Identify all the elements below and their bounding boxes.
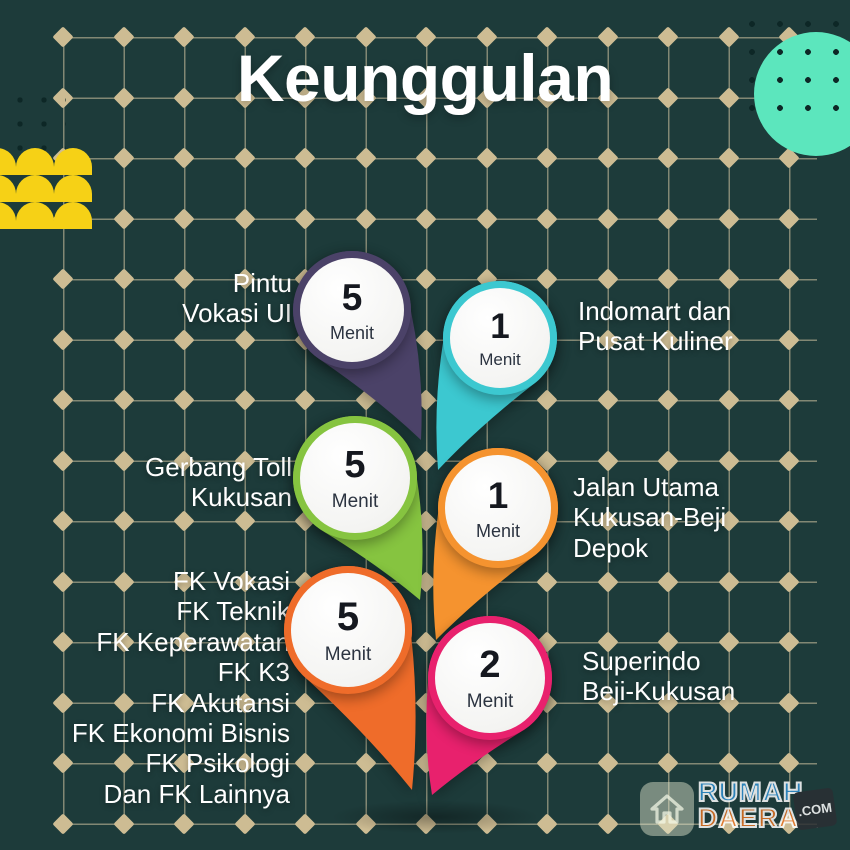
grid-node — [597, 813, 618, 834]
grid-node — [536, 147, 557, 168]
grid-node — [113, 208, 134, 229]
grid-node — [234, 208, 255, 229]
pin-badge: 1Menit — [450, 288, 550, 388]
grid-node — [52, 389, 73, 410]
grid-node — [52, 450, 73, 471]
grid-node — [597, 147, 618, 168]
grid-node — [718, 450, 739, 471]
pin-value: 1 — [490, 309, 509, 344]
grid-node — [52, 813, 73, 834]
pin-value: 2 — [479, 646, 500, 684]
grid-node — [778, 268, 799, 289]
grid-node — [718, 389, 739, 410]
grid-node — [476, 208, 497, 229]
grid-node — [113, 389, 134, 410]
yellow-domes-decoration — [0, 148, 90, 228]
pin-unit: Menit — [467, 692, 513, 711]
grid-node — [718, 752, 739, 773]
infographic-canvas: Keunggulan 5MenitPintu Vokasi UI1MenitIn… — [0, 0, 850, 850]
grid-node — [113, 510, 134, 531]
dome-row — [0, 202, 90, 229]
pin-badge: 2Menit — [435, 623, 545, 733]
grid-node — [415, 208, 436, 229]
map-pin-superindo-beji-kukusan[interactable]: 2Menit — [308, 606, 672, 809]
dome-shape — [54, 202, 92, 229]
pin-badge: 1Menit — [445, 455, 551, 561]
grid-node — [113, 147, 134, 168]
dome-shape — [16, 175, 54, 202]
grid-node — [173, 147, 194, 168]
grid-node — [718, 571, 739, 592]
pin-unit: Menit — [476, 522, 520, 540]
grid-node — [294, 147, 315, 168]
grid-node — [657, 147, 678, 168]
dome-shape — [54, 148, 92, 175]
dome-row — [0, 175, 90, 202]
dome-shape — [54, 175, 92, 202]
grid-node — [294, 813, 315, 834]
grid-node — [52, 510, 73, 531]
grid-node — [355, 208, 376, 229]
grid-node — [778, 389, 799, 410]
grid-node — [52, 268, 73, 289]
grid-node — [536, 208, 557, 229]
grid-node — [718, 147, 739, 168]
grid-node — [476, 147, 497, 168]
grid-node — [415, 147, 436, 168]
grid-node — [778, 208, 799, 229]
dome-shape — [0, 202, 16, 229]
grid-node — [718, 268, 739, 289]
pin-value: 1 — [488, 477, 509, 514]
grid-node — [173, 813, 194, 834]
grid-node — [173, 208, 194, 229]
grid-node — [778, 450, 799, 471]
grid-node — [597, 208, 618, 229]
page-title: Keunggulan — [0, 40, 850, 116]
grid-node — [113, 813, 134, 834]
dome-shape — [0, 175, 16, 202]
grid-node — [778, 752, 799, 773]
watermark-tld-tag: .COM — [793, 787, 838, 830]
dome-row — [0, 148, 90, 175]
grid-node — [657, 208, 678, 229]
grid-node — [294, 208, 315, 229]
grid-node — [234, 147, 255, 168]
grid-node — [718, 208, 739, 229]
dome-shape — [16, 148, 54, 175]
grid-node — [52, 329, 73, 350]
grid-node — [355, 147, 376, 168]
grid-node — [234, 813, 255, 834]
dome-shape — [16, 202, 54, 229]
dome-shape — [0, 148, 16, 175]
pin-unit: Menit — [479, 351, 521, 368]
grid-node — [113, 329, 134, 350]
grid-node — [778, 571, 799, 592]
